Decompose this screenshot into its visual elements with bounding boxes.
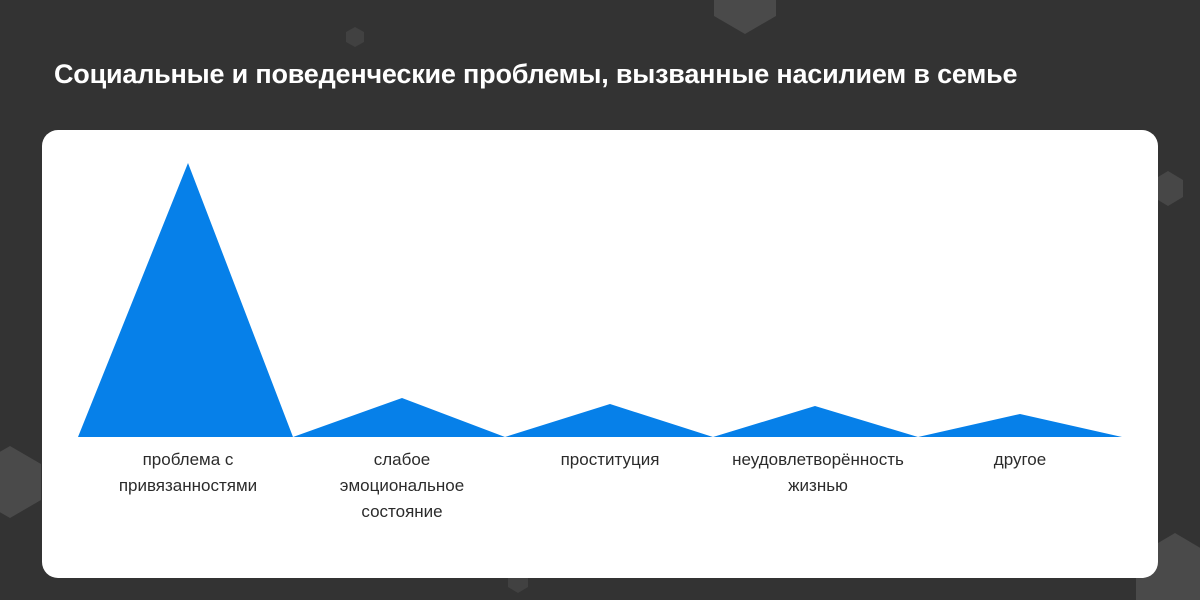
x-label-0-line-1: привязанностями [98, 473, 278, 499]
hexagon-top-large-icon [714, 0, 776, 34]
x-label-1-line-2: состояние [312, 499, 492, 525]
x-axis-labels: проблема с привязанностями слабое эмоцио… [42, 447, 1158, 567]
hexagon-left-lower-icon [0, 446, 41, 518]
x-label-2: проституция [520, 447, 700, 473]
x-label-2-line-0: проституция [520, 447, 700, 473]
x-label-0: проблема с привязанностями [98, 447, 278, 499]
x-label-0-line-0: проблема с [98, 447, 278, 473]
chart-plot-area: проблема с привязанностями слабое эмоцио… [42, 130, 1158, 578]
x-label-1-line-0: слабое [312, 447, 492, 473]
screenshot-root: Социальные и поведенческие проблемы, выз… [0, 0, 1200, 600]
x-label-3: неудовлетворённость жизнью [693, 447, 943, 499]
x-label-3-line-1: жизнью [693, 473, 943, 499]
chart-card: проблема с привязанностями слабое эмоцио… [42, 130, 1158, 578]
hexagon-top-small-icon [346, 27, 364, 47]
x-label-1: слабое эмоциональное состояние [312, 447, 492, 525]
page-title: Социальные и поведенческие проблемы, выз… [54, 57, 1154, 91]
x-label-4: другое [930, 447, 1110, 473]
x-label-1-line-1: эмоциональное [312, 473, 492, 499]
x-label-3-line-0: неудовлетворённость [693, 447, 943, 473]
x-label-4-line-0: другое [930, 447, 1110, 473]
area-series-path [78, 163, 1122, 437]
